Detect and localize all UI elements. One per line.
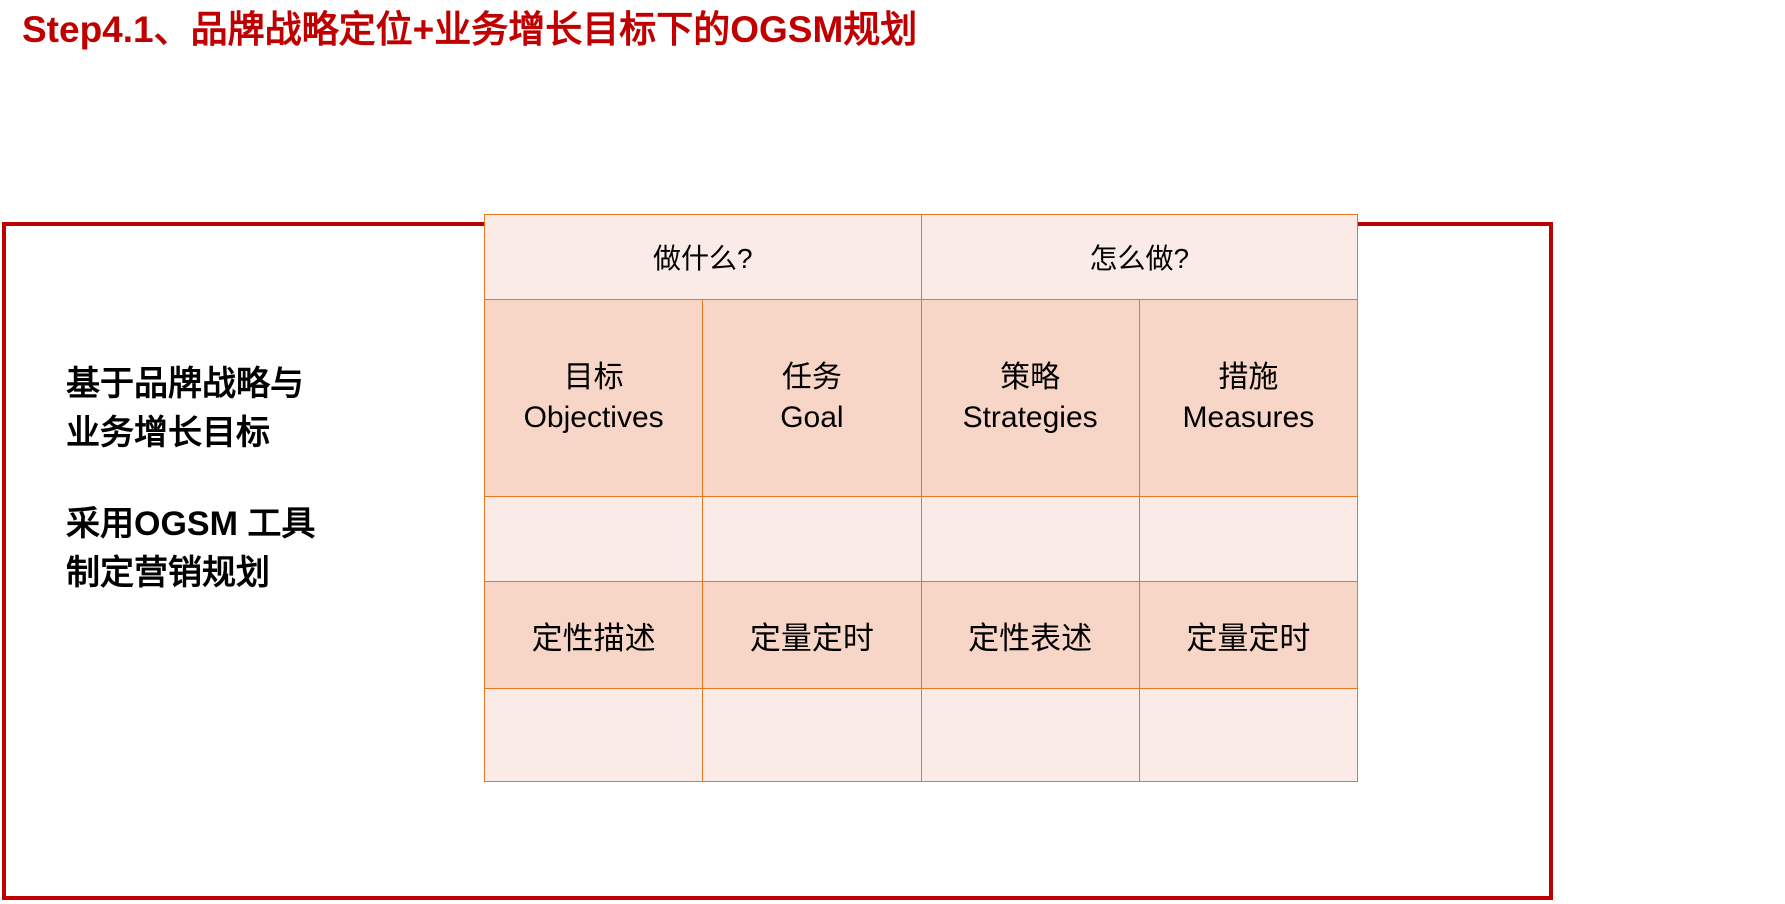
left-paragraph-1-line-1: 基于品牌战略与	[66, 360, 466, 409]
spacer-2-cell-4	[1139, 689, 1357, 782]
column-label-measures-cn: 措施	[1140, 358, 1357, 398]
group-header-how: 怎么做?	[921, 215, 1358, 300]
value-cell-objectives: 定性描述	[485, 582, 703, 689]
column-label-objectives: 目标 Objectives	[485, 300, 703, 497]
column-label-objectives-cn: 目标	[485, 358, 702, 398]
spacer-1-cell-2	[703, 497, 921, 582]
column-label-goal: 任务 Goal	[703, 300, 921, 497]
column-label-goal-cn: 任务	[703, 358, 920, 398]
spacer-2-cell-2	[703, 689, 921, 782]
table-row-spacer-1	[485, 497, 1358, 582]
column-label-measures: 措施 Measures	[1139, 300, 1357, 497]
left-paragraph-2-line-2: 制定营销规划	[66, 549, 466, 598]
column-label-objectives-en: Objectives	[485, 398, 702, 438]
left-paragraph-2-line-1: 采用OGSM 工具	[66, 500, 466, 549]
spacer-2-cell-3	[921, 689, 1139, 782]
column-label-strategies-cn: 策略	[922, 358, 1139, 398]
left-paragraph-1-line-2: 业务增长目标	[66, 409, 466, 458]
value-cell-goal: 定量定时	[703, 582, 921, 689]
ogsm-table: 做什么? 怎么做? 目标 Objectives 任务 Goal 策略 Strat…	[484, 214, 1358, 782]
spacer-1-cell-1	[485, 497, 703, 582]
table-row-column-labels: 目标 Objectives 任务 Goal 策略 Strategies 措施 M…	[485, 300, 1358, 497]
table-row-values: 定性描述 定量定时 定性表述 定量定时	[485, 582, 1358, 689]
left-paragraph-2: 采用OGSM 工具 制定营销规划	[66, 500, 466, 598]
column-label-strategies: 策略 Strategies	[921, 300, 1139, 497]
column-label-goal-en: Goal	[703, 398, 920, 438]
spacer-1-cell-4	[1139, 497, 1357, 582]
table-row-spacer-2	[485, 689, 1358, 782]
table-row-group-headers: 做什么? 怎么做?	[485, 215, 1358, 300]
group-header-what: 做什么?	[485, 215, 922, 300]
value-cell-strategies: 定性表述	[921, 582, 1139, 689]
value-cell-measures: 定量定时	[1139, 582, 1357, 689]
spacer-2-cell-1	[485, 689, 703, 782]
left-description-block: 基于品牌战略与 业务增长目标 采用OGSM 工具 制定营销规划	[66, 360, 466, 598]
left-paragraph-1: 基于品牌战略与 业务增长目标	[66, 360, 466, 458]
page-title: Step4.1、品牌战略定位+业务增长目标下的OGSM规划	[22, 4, 917, 56]
column-label-measures-en: Measures	[1140, 398, 1357, 438]
spacer-1-cell-3	[921, 497, 1139, 582]
left-paragraph-gap	[66, 458, 466, 500]
column-label-strategies-en: Strategies	[922, 398, 1139, 438]
